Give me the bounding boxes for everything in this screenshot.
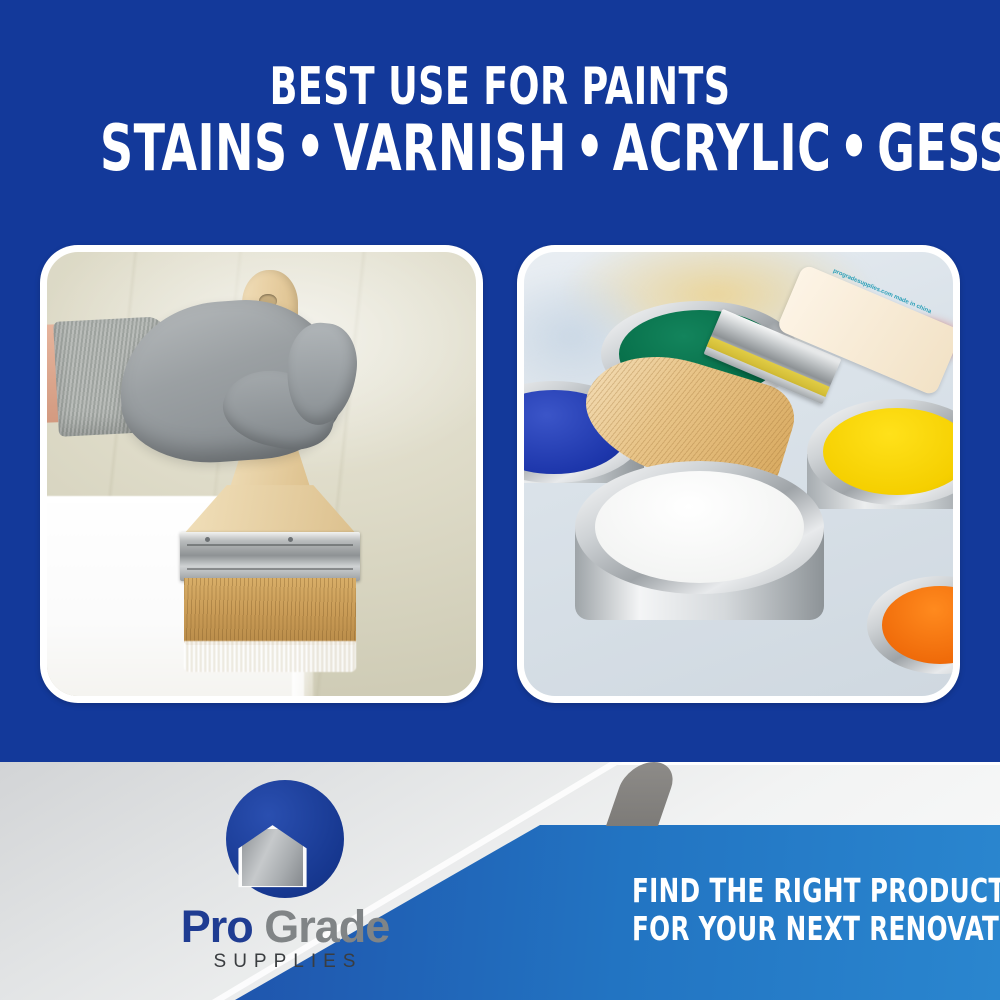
logo-subtitle: SUPPLIES: [126, 951, 450, 973]
brush-bristles: [184, 578, 356, 645]
bristle-texture: [184, 578, 356, 645]
promo-banner: BEST USE FOR PAINTS STAINS•VARNISH•ACRYL…: [0, 0, 1000, 1000]
brush-ferrule: [180, 532, 360, 581]
bullet-separator-icon: •: [288, 117, 334, 179]
paint-can-white: [575, 461, 824, 594]
logo-word-pro: Pro: [181, 901, 253, 952]
photo-card-brush-on-wood: progradesupplies.com made in china: [40, 245, 483, 703]
headline-line-2: STAINS•VARNISH•ACRYLIC•GESSO: [100, 118, 900, 183]
logo-word-grade: Grade: [264, 901, 389, 952]
tagline-line-2: FOR YOUR NEXT RENOVATION: [632, 910, 1000, 948]
headline-term-gesso: GESSO: [877, 112, 1000, 186]
ferrule-rivet: [288, 537, 293, 542]
photo-right: progradesupplies.com made in china: [524, 252, 953, 696]
brand-logo[interactable]: Pro Grade SUPPLIES: [120, 780, 450, 973]
headline-line-1: BEST USE FOR PAINTS: [110, 62, 890, 112]
bullet-separator-icon: •: [831, 117, 877, 179]
photo-gallery: progradesupplies.com made in china: [0, 245, 1000, 705]
headline-term-varnish: VARNISH: [333, 112, 567, 186]
footer-tagline: FIND THE RIGHT PRODUCT FOR YOUR NEXT REN…: [632, 872, 1000, 948]
logo-mark-icon: [226, 780, 344, 898]
paint-surface-white: [595, 471, 804, 583]
headline-term-stains: STAINS: [100, 112, 288, 186]
bristle-tips: [184, 641, 356, 672]
headline-term-acrylic: ACRYLIC: [613, 112, 832, 186]
logo-wordmark: Pro Grade: [120, 904, 450, 950]
photo-card-paint-cans: progradesupplies.com made in china: [517, 245, 960, 703]
footer-section: Pro Grade SUPPLIES FIND THE RIGHT PRODUC…: [0, 762, 1000, 1000]
photo-left: progradesupplies.com made in china: [47, 252, 476, 696]
logo-house-icon: [238, 825, 306, 890]
bullet-separator-icon: •: [567, 117, 613, 179]
ferrule-rivet: [205, 537, 210, 542]
tagline-line-1: FIND THE RIGHT PRODUCT: [632, 872, 1000, 910]
hero-section: BEST USE FOR PAINTS STAINS•VARNISH•ACRYL…: [0, 0, 1000, 762]
headline-block: BEST USE FOR PAINTS STAINS•VARNISH•ACRYL…: [0, 62, 1000, 183]
